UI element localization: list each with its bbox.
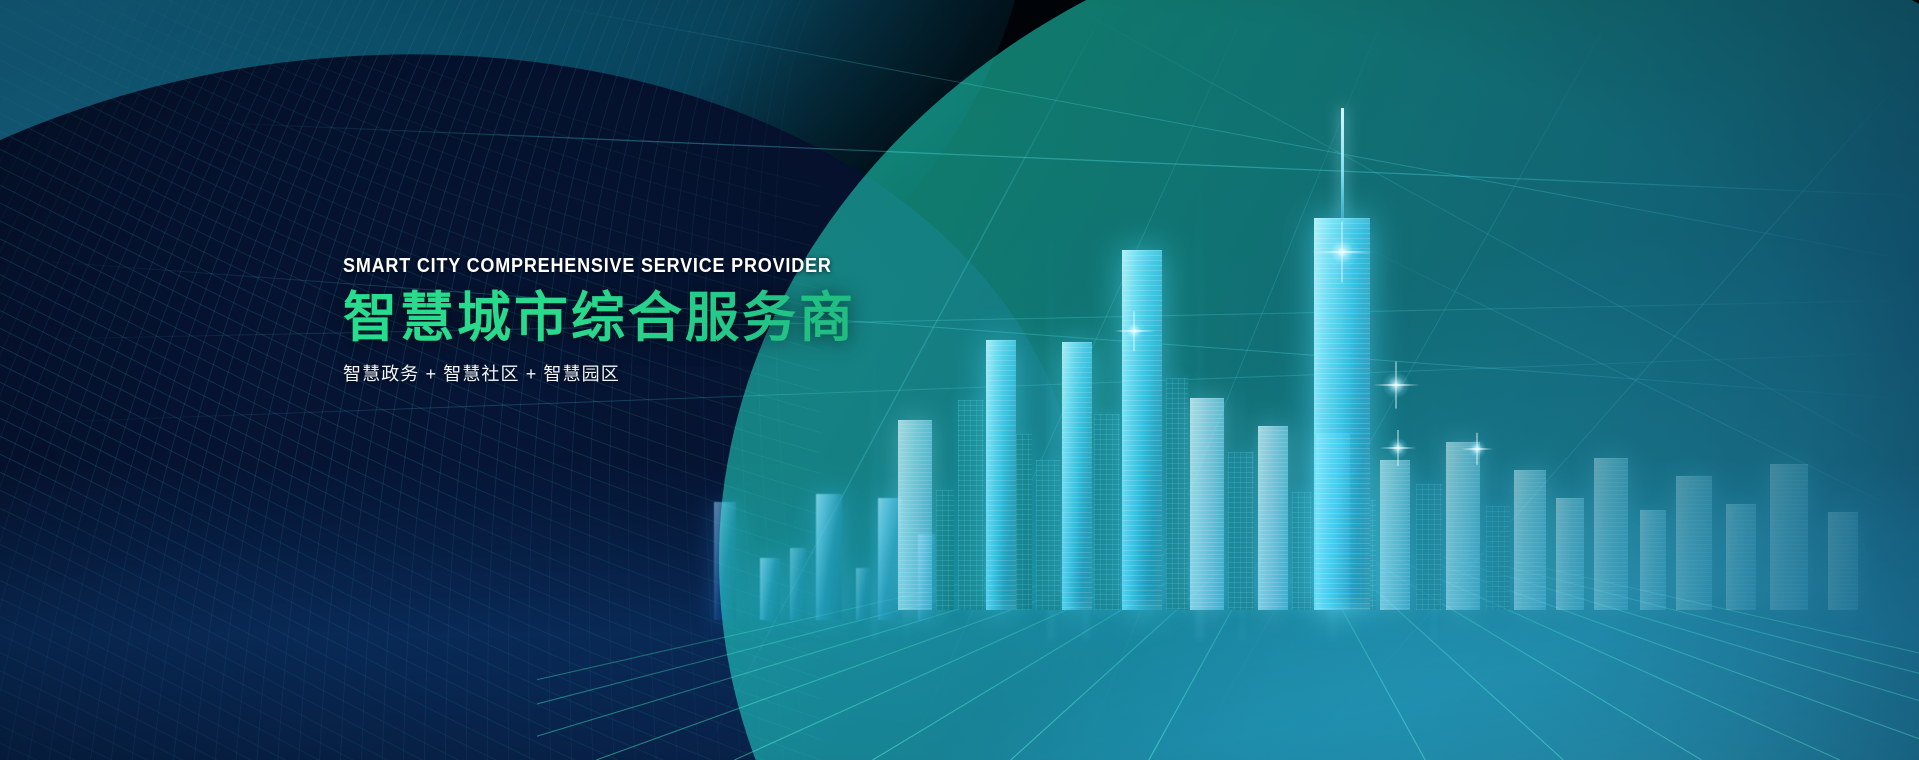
smart-city-hero-banner: SMART CITY COMPREHENSIVE SERVICE PROVIDE… xyxy=(0,0,1919,760)
eyebrow-text: SMART CITY COMPREHENSIVE SERVICE PROVIDE… xyxy=(343,255,832,278)
hero-copy-block: SMART CITY COMPREHENSIVE SERVICE PROVIDE… xyxy=(343,255,886,386)
page-title: 智慧城市综合服务商 xyxy=(343,288,886,348)
subtitle-text: 智慧政务 + 智慧社区 + 智慧园区 xyxy=(343,360,886,386)
